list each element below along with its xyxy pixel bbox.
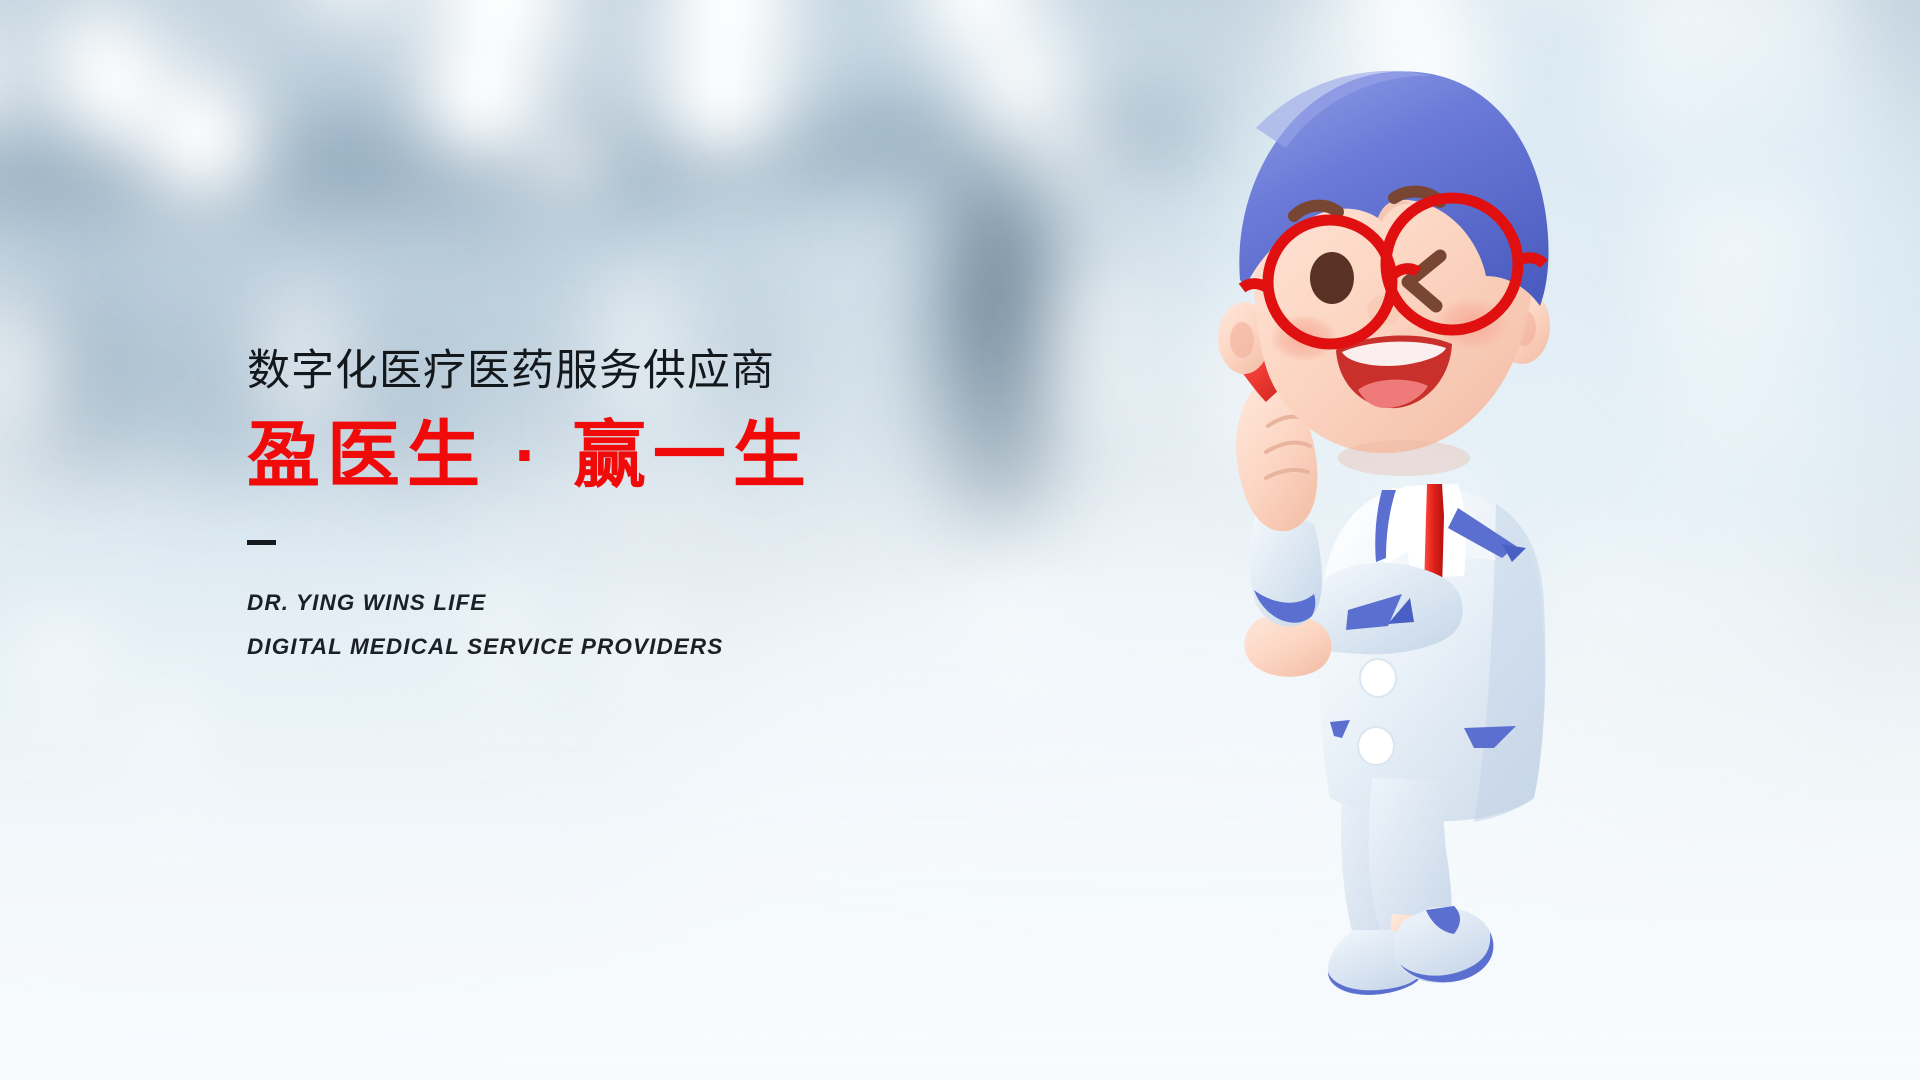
english-tagline-line1: DR. YING WINS LIFE <box>247 592 1067 615</box>
floor-streak <box>16 620 112 770</box>
headline-slogan: 盈医生 · 赢一生 <box>247 417 1067 496</box>
neck-shadow <box>1338 440 1470 476</box>
coat-button-1 <box>1360 659 1396 697</box>
coat-button-2 <box>1358 727 1394 765</box>
hero-copy: 数字化医疗医药服务供应商 盈医生 · 赢一生 DR. YING WINS LIF… <box>247 348 1067 658</box>
glasses-temple-right <box>1516 258 1544 264</box>
divider-rule <box>247 540 276 545</box>
doctor-mascot-illustration <box>1196 38 1656 1048</box>
hero-banner: 数字化医疗医药服务供应商 盈医生 · 赢一生 DR. YING WINS LIF… <box>0 0 1920 1080</box>
headline-subtitle: 数字化医疗医药服务供应商 <box>247 348 1067 395</box>
ear-inner-left <box>1230 322 1254 358</box>
eye-open <box>1310 252 1354 304</box>
floor-streak <box>142 680 198 860</box>
english-tagline-line2: DIGITAL MEDICAL SERVICE PROVIDERS <box>247 636 1067 659</box>
glasses-temple-left <box>1242 284 1268 289</box>
